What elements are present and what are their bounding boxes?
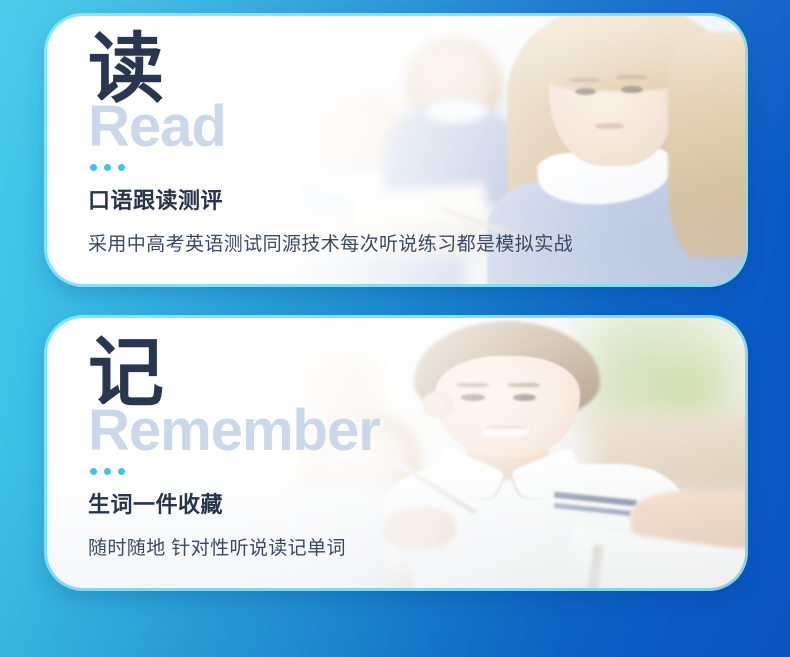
- card-read-description: 采用中高考英语测试同源技术每次听说练习都是模拟实战: [88, 233, 573, 258]
- feature-card-read[interactable]: Read 读 口语跟读测评 采用中高考英语测试同源技术每次听说练习都是模拟实战: [47, 16, 745, 284]
- dot-icon: [90, 468, 97, 475]
- card-read-title: 口语跟读测评: [88, 187, 573, 215]
- dot-icon: [104, 468, 111, 475]
- card-remember-glyph-group: Remember 记: [88, 342, 346, 464]
- card-remember-cn-glyph: 记: [88, 336, 164, 412]
- card-remember-description: 随时随地 针对性听说读记单词: [88, 537, 346, 562]
- card-remember-dots-divider: [90, 468, 346, 475]
- card-remember-content: Remember 记 生词一件收藏 随时随地 针对性听说读记单词: [47, 318, 346, 580]
- feature-card-remember[interactable]: Remember 记 生词一件收藏 随时随地 针对性听说读记单词: [47, 318, 745, 588]
- card-read-cn-glyph: 读: [88, 32, 164, 108]
- card-read-content: Read 读 口语跟读测评 采用中高考英语测试同源技术每次听说练习都是模拟实战: [47, 16, 573, 276]
- dot-icon: [118, 164, 125, 171]
- card-read-dots-divider: [90, 164, 573, 171]
- card-remember-title: 生词一件收藏: [88, 491, 346, 519]
- promo-page: Read 读 口语跟读测评 采用中高考英语测试同源技术每次听说练习都是模拟实战: [0, 0, 790, 657]
- dot-icon: [90, 164, 97, 171]
- card-read-glyph-group: Read 读: [88, 38, 573, 160]
- dot-icon: [118, 468, 125, 475]
- dot-icon: [104, 164, 111, 171]
